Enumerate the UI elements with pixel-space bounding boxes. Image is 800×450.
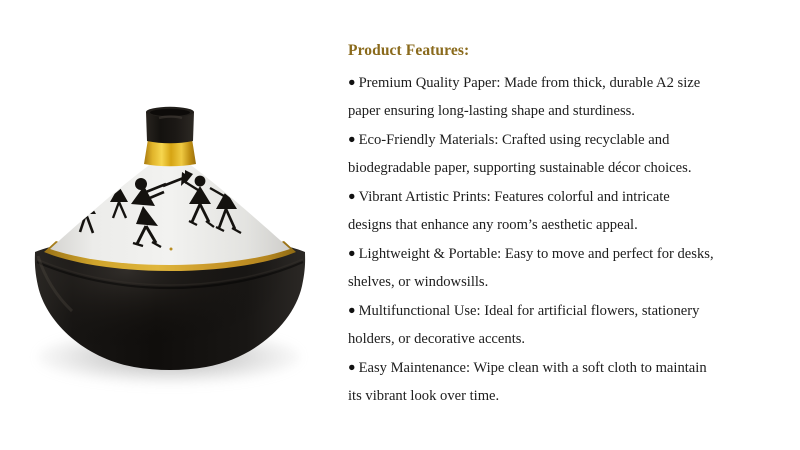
feature-text: Multifunctional Use: Ideal for artificia… [348, 303, 699, 347]
bullet-icon: ● [348, 132, 359, 146]
feature-text: Eco-Friendly Materials: Crafted using re… [348, 132, 691, 176]
product-image-panel [0, 0, 340, 450]
feature-list-item: ●Eco-Friendly Materials: Crafted using r… [348, 125, 714, 182]
bullet-icon: ● [348, 189, 359, 203]
vase-illustration [0, 0, 340, 450]
feature-text: Vibrant Artistic Prints: Features colorf… [348, 189, 670, 233]
feature-text: Lightweight & Portable: Easy to move and… [348, 246, 714, 290]
bullet-icon: ● [348, 75, 359, 89]
vase-neck [146, 107, 194, 143]
feature-list-item: ●Lightweight & Portable: Easy to move an… [348, 239, 714, 296]
vase-white-cone [50, 163, 290, 265]
product-photo[interactable] [0, 0, 340, 450]
feature-list-item: ●Vibrant Artistic Prints: Features color… [348, 182, 714, 239]
feature-text: Premium Quality Paper: Made from thick, … [348, 75, 700, 119]
product-features-panel: Product Features: ●Premium Quality Paper… [348, 0, 768, 450]
feature-list-item: ●Easy Maintenance: Wipe clean with a sof… [348, 353, 714, 410]
feature-list-item: ●Multifunctional Use: Ideal for artifici… [348, 296, 714, 353]
bullet-icon: ● [348, 360, 359, 374]
bullet-icon: ● [348, 303, 359, 317]
product-features-list: ●Premium Quality Paper: Made from thick,… [348, 68, 714, 410]
bullet-icon: ● [348, 246, 359, 260]
product-features-heading: Product Features: [348, 42, 469, 60]
product-detail-page: Product Features: ●Premium Quality Paper… [0, 0, 800, 450]
feature-text: Easy Maintenance: Wipe clean with a soft… [348, 360, 707, 404]
feature-list-item: ●Premium Quality Paper: Made from thick,… [348, 68, 714, 125]
